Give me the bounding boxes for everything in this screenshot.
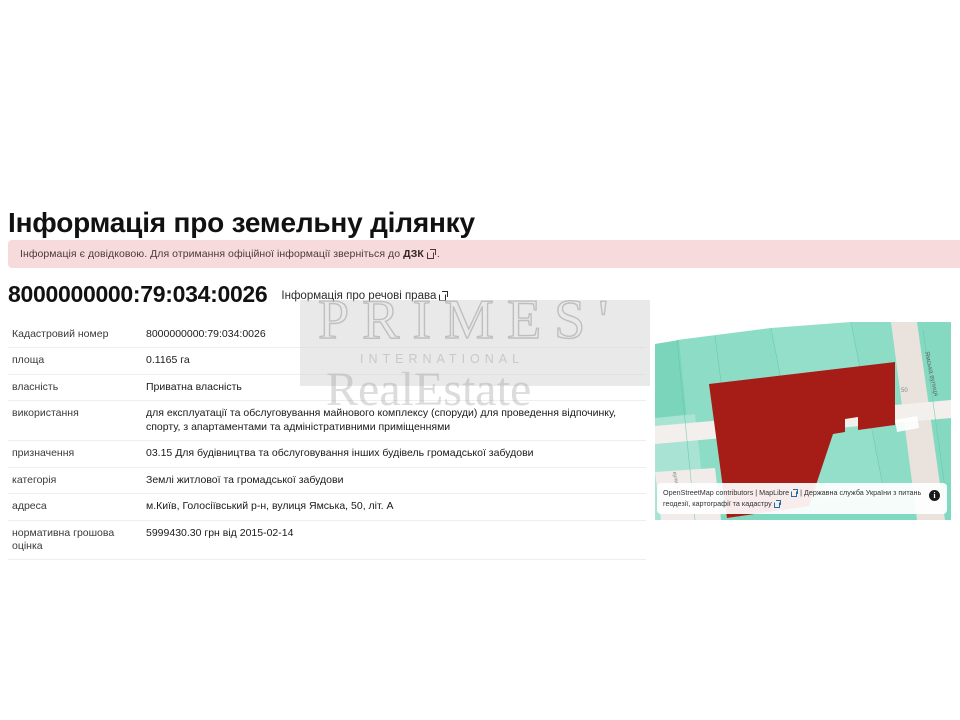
row-value: 5999430.30 грн від 2015-02-14 <box>142 520 646 560</box>
map-info-icon[interactable]: i <box>929 490 940 501</box>
row-value: 0.1165 га <box>142 348 646 374</box>
row-value: Землі житлової та громадської забудови <box>142 467 646 493</box>
map-attribution-osm[interactable]: OpenStreetMap contributors <box>663 488 753 497</box>
land-parcel-info-page: Інформація про земельну ділянку Інформац… <box>0 0 960 720</box>
table-row: площа 0.1165 га <box>8 348 646 374</box>
external-link-icon <box>774 501 780 507</box>
cadastral-number-heading: 8000000000:79:034:0026 <box>8 281 267 308</box>
map-attribution: OpenStreetMap contributors | MapLibre | … <box>657 483 947 514</box>
row-label: площа <box>8 348 142 374</box>
table-row: призначення 03.15 Для будівництва та обс… <box>8 441 646 467</box>
advisory-alert-text: Інформація є довідковою. Для отримання о… <box>20 248 440 260</box>
table-row: нормативна грошова оцінка 5999430.30 грн… <box>8 520 646 560</box>
row-label: Кадастровий номер <box>8 322 142 348</box>
map-house-number-label: 50 <box>901 388 908 394</box>
table-row: використання для експлуатації та обслуго… <box>8 401 646 441</box>
advisory-alert-text-before: Інформація є довідковою. Для отримання о… <box>20 248 403 260</box>
table-row: власність Приватна власність <box>8 374 646 400</box>
row-value: 03.15 Для будівництва та обслуговування … <box>142 441 646 467</box>
row-value: м.Київ, Голосіївський р-н, вулиця Ямська… <box>142 494 646 520</box>
table-row: категорія Землі житлової та громадської … <box>8 467 646 493</box>
parcel-info-table: Кадастровий номер 8000000000:79:034:0026… <box>8 322 646 560</box>
property-rights-link[interactable]: Інформація про речові права <box>281 290 449 302</box>
row-value: Приватна власність <box>142 374 646 400</box>
external-link-icon <box>439 292 447 300</box>
advisory-alert-text-after: . <box>437 248 440 260</box>
row-label: використання <box>8 401 142 441</box>
row-label: призначення <box>8 441 142 467</box>
row-value: 8000000000:79:034:0026 <box>142 322 646 348</box>
table-row: адреса м.Київ, Голосіївський р-н, вулиця… <box>8 494 646 520</box>
row-label: категорія <box>8 467 142 493</box>
row-label: власність <box>8 374 142 400</box>
dzk-link[interactable]: ДЗК <box>403 248 424 260</box>
property-rights-link-label: Інформація про речові права <box>281 290 436 302</box>
cadastral-header-row: 8000000000:79:034:0026 Інформація про ре… <box>8 281 449 308</box>
table-row: Кадастровий номер 8000000000:79:034:0026 <box>8 322 646 348</box>
row-label: нормативна грошова оцінка <box>8 520 142 560</box>
advisory-alert-banner: Інформація є довідковою. Для отримання о… <box>8 240 960 268</box>
map-attribution-maplibre[interactable]: MapLibre <box>759 488 789 497</box>
external-link-icon <box>427 250 435 258</box>
row-label: адреса <box>8 494 142 520</box>
parcel-map[interactable]: Ямська вулиця 50 вулиця OpenStreetMap co… <box>655 322 951 520</box>
row-value: для експлуатації та обслуговування майно… <box>142 401 646 441</box>
page-title: Інформація про земельну ділянку <box>8 207 475 239</box>
external-link-icon <box>791 490 797 496</box>
